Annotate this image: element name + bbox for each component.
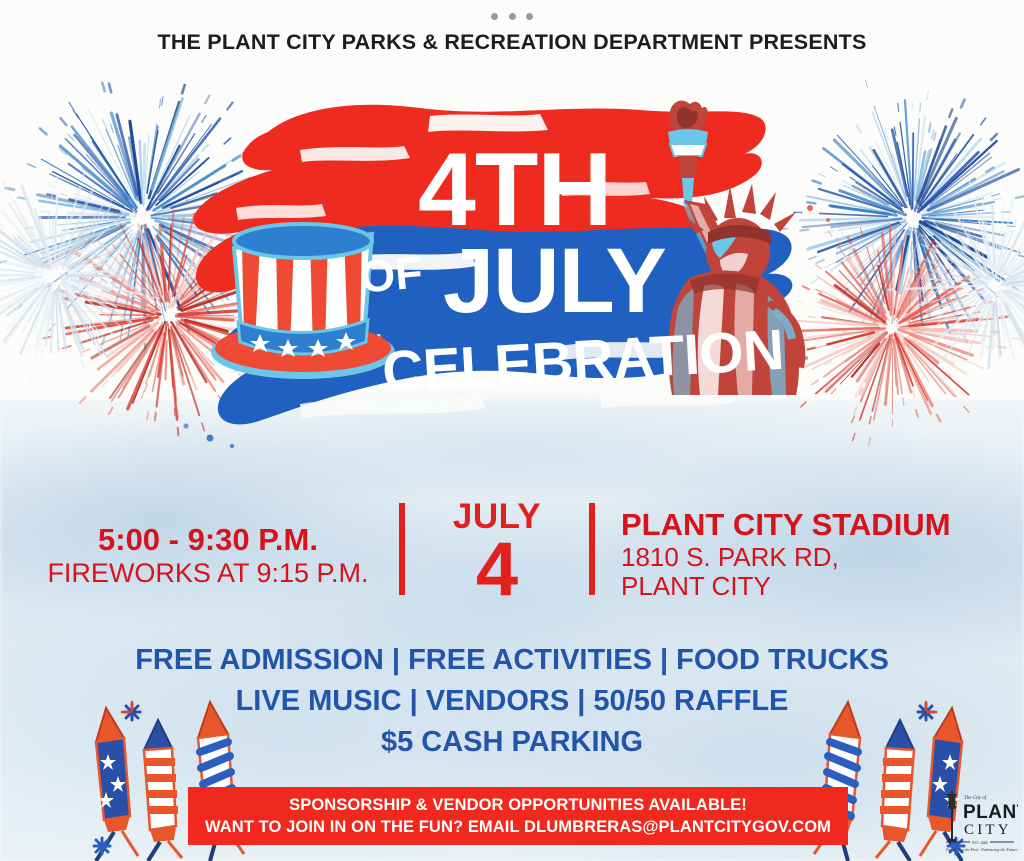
poster-canvas: THE PLANT CITY PARKS & RECREATION DEPART… [0, 0, 1024, 861]
event-fireworks-time: FIREWORKS AT 9:15 P.M. [43, 558, 373, 589]
svg-text:EST. 1885: EST. 1885 [972, 841, 988, 845]
banner-line-2: WANT TO JOIN IN ON THE FUN? EMAIL DLUMBR… [205, 816, 831, 838]
uncle-sam-hat-icon [198, 210, 408, 390]
top-dots-decoration [0, 8, 1024, 26]
event-venue-block: PLANT CITY STADIUM 1810 S. PARK RD, PLAN… [621, 495, 981, 601]
dot-icon [509, 13, 516, 20]
svg-text:The City of: The City of [964, 796, 987, 801]
event-date-block: JULY 4 [431, 495, 563, 606]
divider-right [589, 503, 595, 595]
event-venue-address-line2: PLANT CITY [621, 572, 981, 601]
feature-line-1: FREE ADMISSION | FREE ACTIVITIES | FOOD … [0, 640, 1024, 681]
svg-text:PLANT: PLANT [963, 802, 1018, 823]
event-time-main: 5:00 - 9:30 P.M. [43, 523, 373, 558]
event-time-block: 5:00 - 9:30 P.M. FIREWORKS AT 9:15 P.M. [43, 495, 373, 589]
event-info-strip: 5:00 - 9:30 P.M. FIREWORKS AT 9:15 P.M. … [0, 495, 1024, 620]
presenter-line: THE PLANT CITY PARKS & RECREATION DEPART… [0, 30, 1024, 55]
event-venue-name: PLANT CITY STADIUM [621, 507, 981, 543]
plant-city-logo: The City of PLANT CITY EST. 1885 Preserv… [940, 787, 1018, 855]
lamppost-icon [947, 791, 957, 842]
event-date-day: 4 [431, 534, 563, 606]
dot-icon [526, 13, 533, 20]
sponsorship-banner: SPONSORSHIP & VENDOR OPPORTUNITIES AVAIL… [188, 787, 848, 845]
svg-text:Preserving the Past · Embracin: Preserving the Past · Embracing the Futu… [945, 847, 1018, 852]
svg-text:CITY: CITY [964, 822, 1012, 838]
statue-of-liberty-icon [620, 100, 820, 400]
divider-left [399, 503, 405, 595]
dot-icon [491, 13, 498, 20]
banner-line-1: SPONSORSHIP & VENDOR OPPORTUNITIES AVAIL… [289, 794, 747, 816]
hero-brush-background [0, 88, 1024, 463]
event-venue-address-line1: 1810 S. PARK RD, [621, 543, 981, 572]
